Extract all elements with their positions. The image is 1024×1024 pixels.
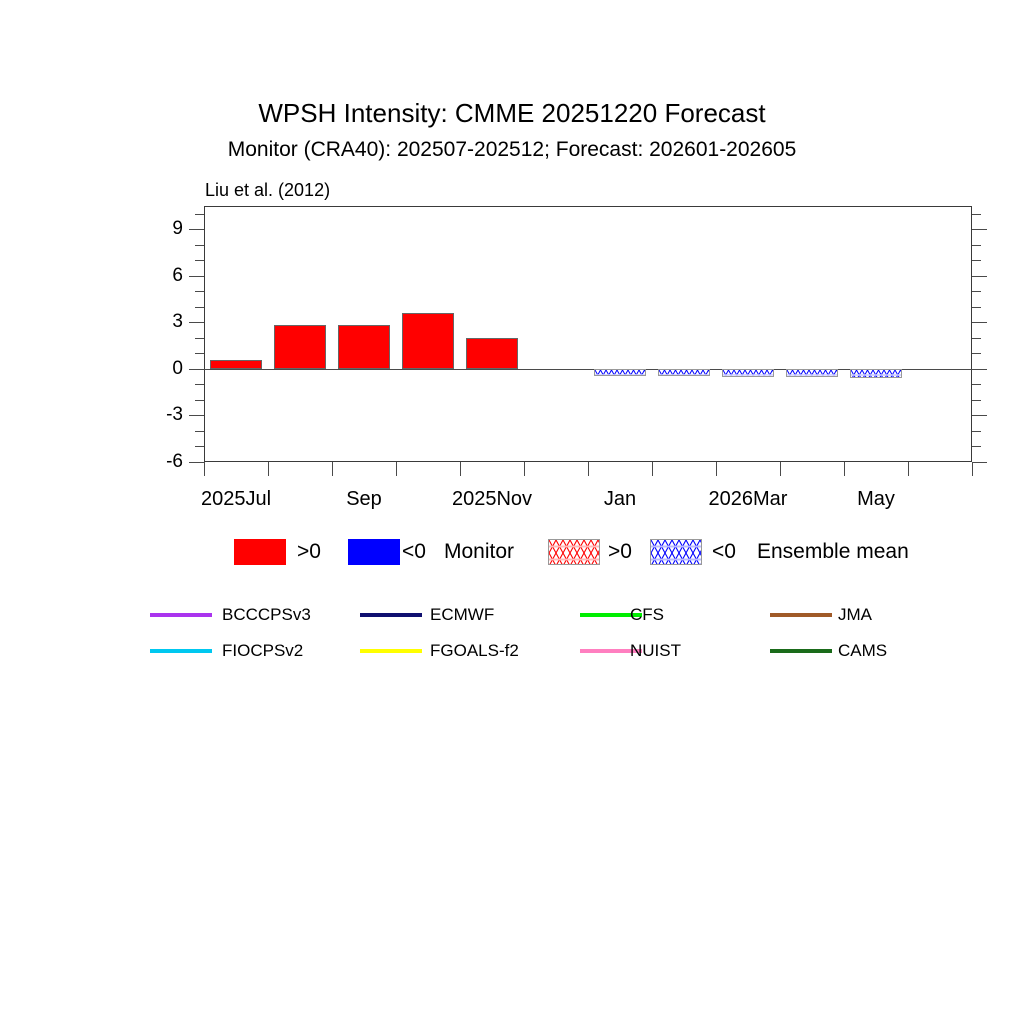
bar-ensemble-mean xyxy=(722,369,774,377)
x-axis-tick xyxy=(332,462,333,476)
legend-swatch-monitor-negative xyxy=(348,539,400,565)
x-axis-tick xyxy=(844,462,845,476)
y-axis-tick-label: 0 xyxy=(143,359,183,378)
bar-monitor xyxy=(274,325,326,368)
page-title: WPSH Intensity: CMME 20251220 Forecast xyxy=(0,98,1024,129)
y-axis-tick xyxy=(195,446,204,447)
y-axis-tick xyxy=(972,245,981,246)
y-axis-tick xyxy=(972,415,987,416)
y-axis-tick xyxy=(189,322,204,323)
y-axis-tick xyxy=(189,369,204,370)
y-axis-tick xyxy=(189,462,204,463)
chart-reference-annotation: Liu et al. (2012) xyxy=(205,180,330,201)
legend-model-line-bcccpsv3 xyxy=(150,613,212,617)
y-axis-tick xyxy=(972,291,981,292)
x-axis-tick xyxy=(588,462,589,476)
y-axis-tick xyxy=(972,462,987,463)
legend-model-line-fiocpsv2 xyxy=(150,649,212,653)
bar-monitor xyxy=(466,338,518,369)
legend-model-line-jma xyxy=(770,613,832,617)
bar-ensemble-mean xyxy=(786,369,838,377)
legend-model-label-fgoals-f2: FGOALS-f2 xyxy=(430,641,519,661)
legend-model-label-bcccpsv3: BCCCPSv3 xyxy=(222,605,311,625)
y-axis-tick xyxy=(189,229,204,230)
bar-ensemble-mean xyxy=(594,369,646,376)
y-axis-tick xyxy=(189,276,204,277)
x-axis-tick xyxy=(268,462,269,476)
x-axis-tick-label: 2026Mar xyxy=(709,488,788,511)
legend-label-ensemble-positive: >0 xyxy=(608,540,632,564)
y-axis-tick xyxy=(195,307,204,308)
legend-label-monitor-group: Monitor xyxy=(444,540,514,564)
y-axis-tick xyxy=(972,338,981,339)
y-axis-tick xyxy=(195,384,204,385)
y-axis-tick-label: 9 xyxy=(143,219,183,238)
y-axis-tick-label: 6 xyxy=(143,266,183,285)
legend-model-line-ecmwf xyxy=(360,613,422,617)
chart-figure: WPSH Intensity: CMME 20251220 Forecast M… xyxy=(0,0,1024,1024)
legend-model-label-cfs: CFS xyxy=(630,605,664,625)
bar-monitor xyxy=(338,325,390,368)
legend-model-label-fiocpsv2: FIOCPSv2 xyxy=(222,641,303,661)
x-axis-tick-label: 2025Nov xyxy=(452,488,532,511)
chart-subtitle: Monitor (CRA40): 202507-202512; Forecast… xyxy=(0,138,1024,162)
x-axis-tick-label: May xyxy=(857,488,895,511)
y-axis-tick xyxy=(972,384,981,385)
legend-label-monitor-negative: <0 xyxy=(402,540,426,564)
bar-ensemble-mean xyxy=(658,369,710,376)
y-axis-tick-label: 3 xyxy=(143,312,183,331)
x-axis-tick xyxy=(204,462,205,476)
legend-model-line-fgoals-f2 xyxy=(360,649,422,653)
legend-swatch-ensemble-positive xyxy=(548,539,600,565)
y-axis-tick xyxy=(189,415,204,416)
y-axis-tick xyxy=(195,291,204,292)
legend-model-line-cams xyxy=(770,649,832,653)
y-axis-tick xyxy=(972,276,987,277)
legend-swatch-ensemble-negative xyxy=(650,539,702,565)
x-axis-tick xyxy=(716,462,717,476)
bar-ensemble-mean xyxy=(850,369,902,378)
x-axis-tick-label: 2025Jul xyxy=(201,488,271,511)
legend-model-label-jma: JMA xyxy=(838,605,872,625)
y-axis-tick xyxy=(972,307,981,308)
y-axis-tick xyxy=(195,353,204,354)
x-axis-tick xyxy=(460,462,461,476)
y-axis-tick xyxy=(972,260,981,261)
legend-label-ensemble-negative: <0 xyxy=(712,540,736,564)
legend-label-ensemble-group: Ensemble mean xyxy=(757,540,909,564)
x-axis-tick xyxy=(972,462,973,476)
bar-monitor xyxy=(210,360,262,369)
y-axis-tick xyxy=(195,260,204,261)
legend-monitor-ensemble: >0<0Monitor>0<0Ensemble mean xyxy=(0,537,1024,571)
y-axis-tick xyxy=(972,431,981,432)
y-axis-tick xyxy=(972,353,981,354)
legend-swatch-monitor-positive xyxy=(234,539,286,565)
legend-model-label-ecmwf: ECMWF xyxy=(430,605,494,625)
y-axis-tick xyxy=(972,400,981,401)
y-axis-tick xyxy=(972,369,987,370)
x-axis-tick-label: Jan xyxy=(604,488,636,511)
x-axis-tick xyxy=(652,462,653,476)
y-axis-tick-label: -6 xyxy=(143,452,183,471)
legend-model-label-cams: CAMS xyxy=(838,641,887,661)
y-axis-tick xyxy=(972,446,981,447)
y-axis-tick xyxy=(195,245,204,246)
y-axis-tick xyxy=(972,214,981,215)
bar-monitor xyxy=(402,313,454,369)
y-axis-tick xyxy=(195,338,204,339)
y-axis-tick xyxy=(972,229,987,230)
legend-label-monitor-positive: >0 xyxy=(297,540,321,564)
x-axis-tick xyxy=(780,462,781,476)
y-axis-tick xyxy=(195,214,204,215)
x-axis-tick xyxy=(524,462,525,476)
y-axis-tick xyxy=(195,431,204,432)
y-axis-tick xyxy=(972,322,987,323)
x-axis-tick xyxy=(908,462,909,476)
x-axis-tick-label: Sep xyxy=(346,488,382,511)
y-axis-tick-label: -3 xyxy=(143,405,183,424)
legend-model-label-nuist: NUIST xyxy=(630,641,681,661)
y-axis-tick xyxy=(195,400,204,401)
x-axis-tick xyxy=(396,462,397,476)
